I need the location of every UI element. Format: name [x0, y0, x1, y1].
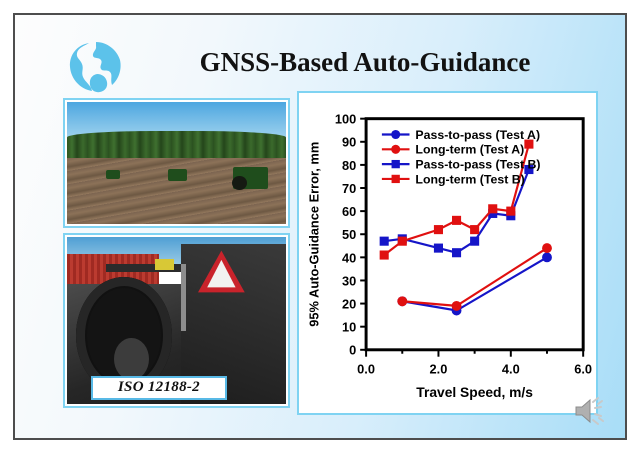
- series-marker-3: [488, 204, 497, 213]
- slide-header: GNSS-Based Auto-Guidance: [15, 15, 625, 77]
- y-axis-tick-label: 80: [342, 158, 356, 173]
- y-axis-tick-label: 40: [342, 250, 356, 265]
- series-marker-2: [380, 237, 389, 246]
- series-marker-3: [434, 225, 443, 234]
- page-title: GNSS-Based Auto-Guidance: [145, 47, 585, 78]
- field-tractors-photo: [63, 98, 290, 228]
- auto-guidance-error-chart: 01020304050607080901000.02.04.06.0Travel…: [297, 91, 598, 415]
- series-marker-1: [542, 243, 552, 253]
- photo-tractor-mid: [168, 169, 188, 181]
- series-marker-0: [542, 252, 552, 262]
- photo-treeline: [67, 131, 286, 160]
- legend-label-3: Long-term (Test B): [415, 172, 524, 186]
- iso-standard-badge: ISO 12188-2: [91, 376, 227, 400]
- y-axis-tick-label: 50: [342, 227, 356, 242]
- legend-label-2: Pass-to-pass (Test B): [415, 158, 540, 172]
- legend-marker-0: [391, 130, 400, 139]
- photo-mast: [181, 264, 186, 331]
- photo-tractor-far: [106, 170, 119, 179]
- x-axis-tick-label: 0.0: [357, 361, 375, 376]
- y-axis-tick-label: 90: [342, 135, 356, 150]
- speaker-icon[interactable]: [573, 396, 607, 426]
- photo-tractor-near: [233, 167, 268, 189]
- series-marker-3: [470, 225, 479, 234]
- series-marker-2: [434, 244, 443, 253]
- series-line-1: [402, 248, 547, 306]
- photo-wheel-hub: [114, 338, 149, 380]
- y-axis-tick-label: 30: [342, 273, 356, 288]
- series-marker-3: [380, 250, 389, 259]
- legend-marker-1: [391, 145, 400, 154]
- series-marker-3: [506, 207, 515, 216]
- x-axis-tick-label: 2.0: [430, 361, 448, 376]
- photo-yellow-module: [155, 259, 175, 271]
- x-axis-title: Travel Speed, m/s: [416, 384, 533, 400]
- chart-svg: 01020304050607080901000.02.04.06.0Travel…: [299, 93, 596, 413]
- series-marker-1: [452, 301, 462, 311]
- y-axis-tick-label: 100: [335, 112, 356, 127]
- series-marker-3: [452, 216, 461, 225]
- x-axis-tick-label: 4.0: [502, 361, 520, 376]
- legend-marker-3: [392, 175, 400, 183]
- y-axis-title: 95% Auto-Guidance Error, mm: [307, 142, 322, 327]
- globe-icon: [67, 41, 123, 93]
- slide: GNSS-Based Auto-Guidance: [13, 13, 627, 440]
- y-axis-tick-label: 70: [342, 181, 356, 196]
- y-axis-tick-label: 0: [349, 343, 356, 358]
- legend-marker-2: [392, 160, 400, 168]
- tractor-rear-photo: ISO 12188-2: [63, 233, 290, 408]
- series-marker-3: [398, 237, 407, 246]
- y-axis-tick-label: 10: [342, 320, 356, 335]
- series-marker-1: [397, 296, 407, 306]
- x-axis-tick-label: 6.0: [574, 361, 592, 376]
- y-axis-tick-label: 60: [342, 204, 356, 219]
- legend-label-1: Long-term (Test A): [415, 143, 524, 157]
- series-marker-2: [452, 248, 461, 257]
- slow-vehicle-triangle-icon: [194, 249, 249, 296]
- legend-label-0: Pass-to-pass (Test A): [415, 128, 540, 142]
- y-axis-tick-label: 20: [342, 297, 356, 312]
- series-marker-2: [470, 237, 479, 246]
